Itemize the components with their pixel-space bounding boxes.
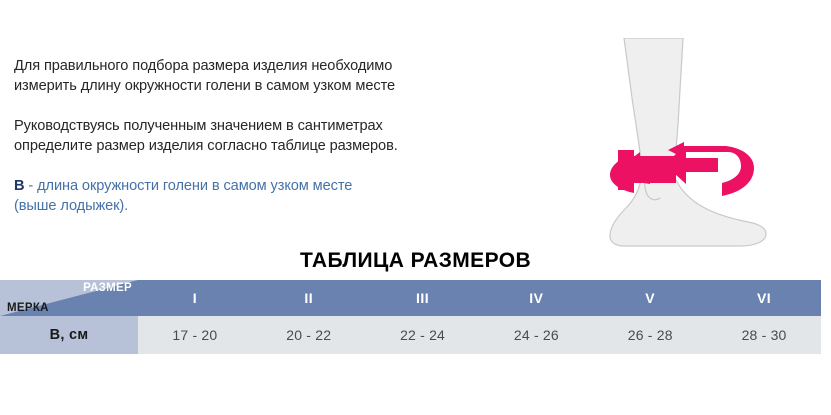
corner-measure-label: МЕРКА xyxy=(7,302,49,314)
measurement-definition: В - длина окружности голени в самом узко… xyxy=(14,176,534,216)
column-header-2: II xyxy=(252,280,366,316)
cell-size-6: 28 - 30 xyxy=(707,316,821,354)
column-header-3: III xyxy=(366,280,480,316)
size-table-title: ТАБЛИЦА РАЗМЕРОВ xyxy=(0,249,831,273)
column-header-1: I xyxy=(138,280,252,316)
column-header-4: IV xyxy=(479,280,593,316)
table-corner-cell: РАЗМЕР МЕРКА xyxy=(0,280,138,316)
instruction-paragraph-2-line-2: определите размер изделия согласно табли… xyxy=(14,136,534,156)
size-table-head: РАЗМЕР МЕРКА I II III IV V VI xyxy=(0,280,821,316)
cell-size-1: 17 - 20 xyxy=(138,316,252,354)
size-table-container: РАЗМЕР МЕРКА I II III IV V VI В, см 17 -… xyxy=(0,280,821,354)
instruction-paragraph-1: Для правильного подбора размера изделия … xyxy=(14,56,534,96)
size-chart-page: Для правильного подбора размера изделия … xyxy=(0,0,831,415)
instructions-block: Для правильного подбора размера изделия … xyxy=(14,56,534,216)
corner-size-label: РАЗМЕР xyxy=(83,282,132,294)
measurement-definition-line-1: В - длина окружности голени в самом узко… xyxy=(14,176,534,196)
leg-diagram-svg xyxy=(588,38,793,263)
instruction-paragraph-1-line-2: измерить длину окружности голени в самом… xyxy=(14,76,534,96)
cell-size-5: 26 - 28 xyxy=(593,316,707,354)
column-header-5: V xyxy=(593,280,707,316)
measurement-definition-text: - длина окружности голени в самом узком … xyxy=(24,178,352,194)
cell-size-2: 20 - 22 xyxy=(252,316,366,354)
instruction-paragraph-2-line-1: Руководствуясь полученным значением в са… xyxy=(14,116,534,136)
row-label-b-cm: В, см xyxy=(0,316,138,354)
instruction-paragraph-2: Руководствуясь полученным значением в са… xyxy=(14,116,534,156)
measurement-definition-line-2: (выше лодыжек). xyxy=(14,196,534,216)
size-table-body: В, см 17 - 20 20 - 22 22 - 24 24 - 26 26… xyxy=(0,316,821,354)
table-row: В, см 17 - 20 20 - 22 22 - 24 24 - 26 26… xyxy=(0,316,821,354)
measurement-marker-b: В xyxy=(14,178,24,194)
cell-size-4: 24 - 26 xyxy=(479,316,593,354)
instruction-paragraph-1-line-1: Для правильного подбора размера изделия … xyxy=(14,56,534,76)
size-table: РАЗМЕР МЕРКА I II III IV V VI В, см 17 -… xyxy=(0,280,821,354)
column-header-6: VI xyxy=(707,280,821,316)
cell-size-3: 22 - 24 xyxy=(366,316,480,354)
leg-measurement-illustration: В xyxy=(588,38,793,263)
measure-band-front xyxy=(632,158,650,184)
size-table-header-row: РАЗМЕР МЕРКА I II III IV V VI xyxy=(0,280,821,316)
